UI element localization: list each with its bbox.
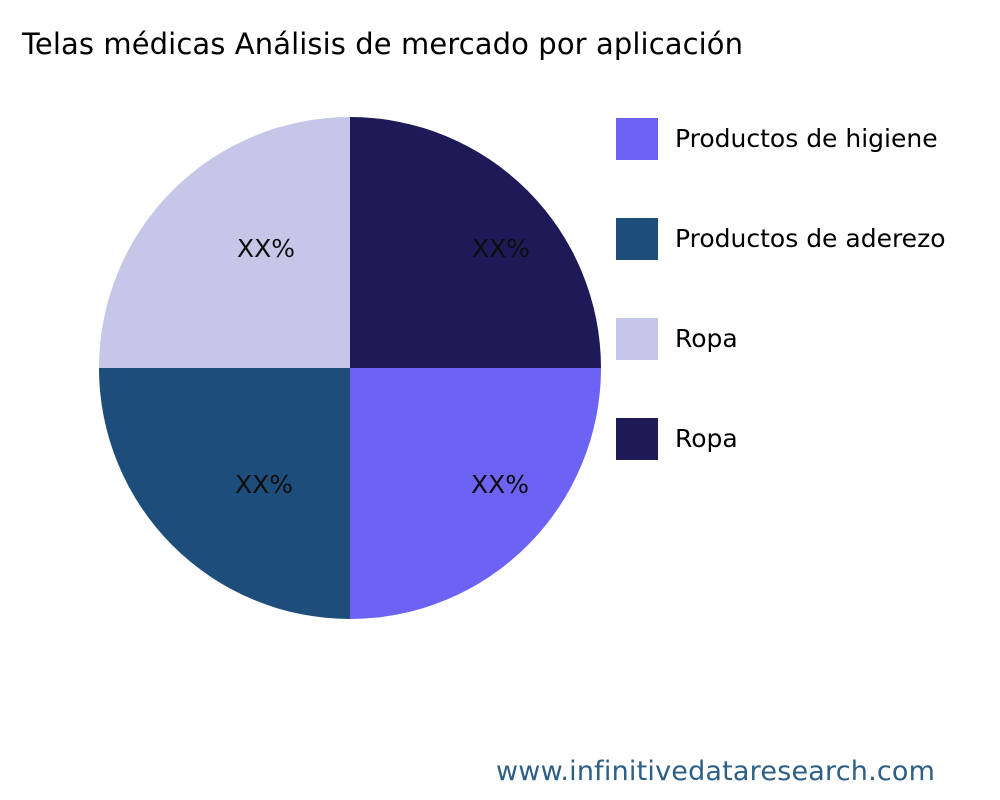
legend-swatch-icon (616, 318, 658, 360)
chart-title: Telas médicas Análisis de mercado por ap… (22, 26, 743, 62)
legend-item-label: Ropa (675, 418, 738, 460)
pie-slice-label-bottom-left: XX% (235, 470, 293, 499)
legend-swatch-icon (616, 418, 658, 460)
pie-chart-plot-area: XX% XX% XX% XX% (98, 116, 602, 620)
pie-slice-label-bottom-right: XX% (471, 470, 529, 499)
pie-slice-label-top-right: XX% (472, 234, 530, 263)
legend-item-label: Productos de higiene (675, 118, 938, 160)
legend-item-ropa-dark[interactable]: Ropa (616, 418, 738, 460)
source-url-watermark: www.infinitivedataresearch.com (496, 755, 935, 789)
pie-svg: XX% XX% XX% XX% (98, 116, 602, 620)
pie-chart-figure: Telas médicas Análisis de mercado por ap… (0, 0, 1000, 800)
pie-slice-top-left[interactable] (99, 117, 350, 368)
legend-swatch-icon (616, 118, 658, 160)
chart-legend: Productos de higiene Productos de aderez… (616, 118, 1000, 468)
pie-slice-label-top-left: XX% (237, 234, 295, 263)
legend-item-ropa-light[interactable]: Ropa (616, 318, 738, 360)
legend-swatch-icon (616, 218, 658, 260)
legend-item-productos-de-aderezo[interactable]: Productos de aderezo (616, 218, 945, 260)
legend-item-label: Productos de aderezo (675, 218, 945, 260)
legend-item-label: Ropa (675, 318, 738, 360)
legend-item-productos-de-higiene[interactable]: Productos de higiene (616, 118, 938, 160)
pie-slice-bottom-left[interactable] (99, 368, 350, 619)
